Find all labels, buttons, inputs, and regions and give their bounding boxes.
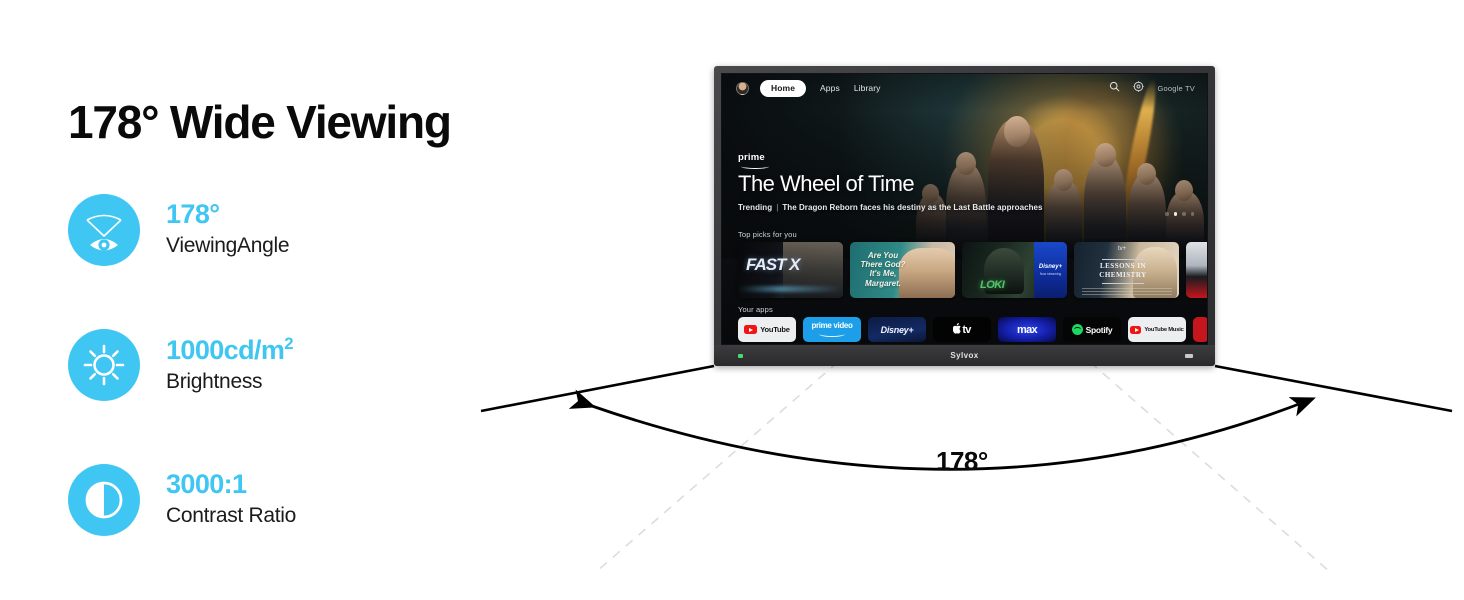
pick-card-fastx[interactable]: FAST X xyxy=(738,242,843,298)
spec-item-viewing-angle: 178° ViewingAngle xyxy=(68,192,296,267)
tv-chin: Sylvox xyxy=(714,345,1215,366)
apple-tv-badge: tv+ xyxy=(1118,246,1126,252)
ir-receiver-icon xyxy=(1185,354,1193,358)
carousel-dot[interactable] xyxy=(1165,212,1169,216)
youtube-play-icon xyxy=(1130,326,1141,334)
hero-badge: Trending xyxy=(738,203,772,212)
app-tile-youtube[interactable]: YouTube xyxy=(738,317,796,342)
tv-device: Home Apps Library xyxy=(714,66,1215,366)
navbar-right: Google TV xyxy=(1109,79,1195,97)
spec-text-contrast: 3000:1 Contrast Ratio xyxy=(166,469,296,529)
power-led-icon xyxy=(738,354,743,358)
app-label: prime video xyxy=(811,322,852,330)
avatar[interactable] xyxy=(736,82,749,95)
spec-list: 178° ViewingAngle xyxy=(68,192,296,597)
app-tile-prime-video[interactable]: prime video xyxy=(803,317,861,342)
spec-label: Brightness xyxy=(166,368,293,395)
carousel-dot[interactable] xyxy=(1191,212,1195,216)
your-apps-label: Your apps xyxy=(738,305,773,314)
app-tile-spotify[interactable]: Spotify xyxy=(1063,317,1121,342)
dashed-guide-right xyxy=(1090,362,1330,572)
spec-item-contrast: 3000:1 Contrast Ratio xyxy=(68,462,296,537)
app-tile-apple-tv[interactable]: tv xyxy=(933,317,991,342)
gear-icon[interactable] xyxy=(1133,79,1144,97)
carousel-dot[interactable] xyxy=(1182,212,1186,216)
hero-description: The Dragon Reborn faces his destiny as t… xyxy=(782,203,1042,212)
tv-screen: Home Apps Library xyxy=(721,73,1208,345)
pick-title: Are You There God? It's Me, Margaret. xyxy=(857,251,909,288)
spec-label: Contrast Ratio xyxy=(166,502,296,529)
boundary-line-right xyxy=(1215,366,1452,411)
top-picks-label: Top picks for you xyxy=(738,230,797,239)
spec-value: 1000cd/m2 xyxy=(166,334,293,366)
pick-card-partial[interactable] xyxy=(1186,242,1208,298)
pick-card-margaret[interactable]: Are You There God? It's Me, Margaret. xyxy=(850,242,955,298)
brightness-icon xyxy=(68,329,140,401)
app-label: YouTube xyxy=(760,325,790,334)
app-label: Disney+ xyxy=(881,325,914,335)
carousel-dot-active[interactable] xyxy=(1174,212,1178,216)
app-tile-netflix[interactable] xyxy=(1193,317,1208,342)
apple-logo-icon xyxy=(953,321,962,339)
spec-item-brightness: 1000cd/m2 Brightness xyxy=(68,327,296,402)
fine-print xyxy=(1082,288,1172,296)
hero-subtitle: Trending|The Dragon Reborn faces his des… xyxy=(738,203,1043,212)
your-apps-row: YouTube prime video Disney+ tv max xyxy=(738,317,1208,342)
prime-logo: prime xyxy=(738,153,772,166)
pick-card-lessons-in-chemistry[interactable]: tv+ LESSONS IN CHEMISTRY xyxy=(1074,242,1179,298)
platform-label: Google TV xyxy=(1157,84,1195,93)
app-label: tv xyxy=(962,324,970,336)
app-tile-max[interactable]: max xyxy=(998,317,1056,342)
hero-title: The Wheel of Time xyxy=(738,172,1043,196)
angle-label: 178° xyxy=(936,446,988,477)
tv-navbar: Home Apps Library xyxy=(722,74,1208,102)
hero-text-block: prime The Wheel of Time Trending|The Dra… xyxy=(738,153,1043,212)
pick-card-loki[interactable]: LOKI Disney+ Now streaming xyxy=(962,242,1067,298)
tab-library[interactable]: Library xyxy=(854,83,881,93)
viewing-angle-icon xyxy=(68,194,140,266)
youtube-play-icon xyxy=(744,325,757,334)
spec-text-brightness: 1000cd/m2 Brightness xyxy=(166,334,293,395)
search-icon[interactable] xyxy=(1109,79,1120,97)
app-tile-youtube-music[interactable]: YouTube Music xyxy=(1128,317,1186,342)
app-label: max xyxy=(1017,324,1037,336)
carousel-dots[interactable] xyxy=(1165,212,1194,216)
contrast-icon xyxy=(68,464,140,536)
app-label: YouTube Music xyxy=(1144,327,1183,333)
spotify-icon xyxy=(1072,324,1083,335)
pick-title: FAST X xyxy=(746,256,800,273)
spec-value: 178° xyxy=(166,199,289,230)
tab-apps[interactable]: Apps xyxy=(820,83,840,93)
spec-panel: 178° Wide Viewing 178° ViewingAngle xyxy=(0,0,700,600)
amazon-smile-icon xyxy=(819,331,845,337)
app-label: Spotify xyxy=(1086,325,1113,335)
pick-provider-badge: Disney+ Now streaming xyxy=(1034,242,1067,298)
top-picks-row: FAST X Are You There God? It's Me, Marga… xyxy=(738,242,1208,298)
pick-title: LESSONS IN CHEMISTRY xyxy=(1094,257,1152,286)
spec-text-viewing-angle: 178° ViewingAngle xyxy=(166,199,289,259)
spec-value: 3000:1 xyxy=(166,469,296,500)
pick-title: LOKI xyxy=(980,279,1004,291)
page-title: 178° Wide Viewing xyxy=(68,95,451,149)
app-tile-disney-plus[interactable]: Disney+ xyxy=(868,317,926,342)
tv-brand-logo: Sylvox xyxy=(950,351,978,360)
tab-home[interactable]: Home xyxy=(760,80,806,97)
spec-label: ViewingAngle xyxy=(166,232,289,259)
